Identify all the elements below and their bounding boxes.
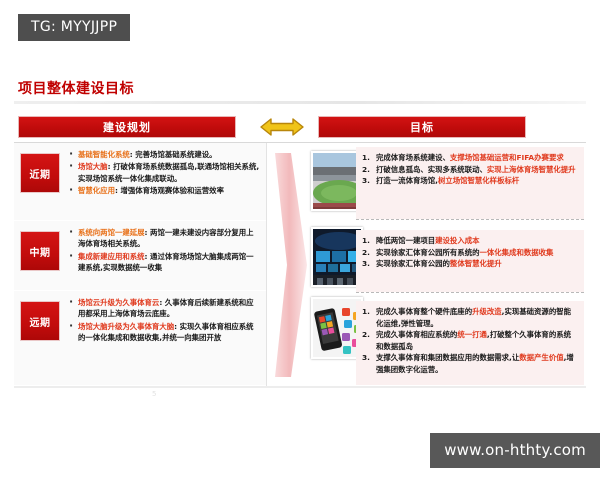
bottom-divider bbox=[14, 386, 586, 388]
goal-item-number: 3. bbox=[362, 175, 370, 187]
bottom-watermark-tag: www.on-hthty.com bbox=[430, 433, 600, 468]
goal-item: 2.打破信息孤岛、实现多系统联动、实现上海体育场智慧化提升 bbox=[360, 164, 578, 176]
banner-construction-plan[interactable]: 建设规划 bbox=[18, 116, 236, 138]
goal-item: 3.支撑久事体育和集团数据应用的数据需求,让数据产生价值,增强集团数字化运营。 bbox=[360, 352, 578, 375]
goal-item: 1.降低两馆一建项目建设投入成本 bbox=[360, 235, 578, 247]
plan-bullet-list: 场馆云升级为久事体育云: 久事体育后续新建系统和应用都采用上海体育场云底座。场馆… bbox=[66, 291, 266, 345]
plan-row: 近期 基础智能化系统: 完善场馆基础系统建设。场馆大脑: 打破体育场系统数据孤岛… bbox=[14, 143, 266, 221]
content-body: 近期 基础智能化系统: 完善场馆基础系统建设。场馆大脑: 打破体育场系统数据孤岛… bbox=[14, 142, 586, 387]
goal-item: 3.打造一流体育场馆,树立场馆智慧化样板标杆 bbox=[360, 175, 578, 187]
plan-bullet-list: 系统向两馆一建延展: 两馆一建未建设内容部分复用上海体育场相关系统。集成新建应用… bbox=[66, 221, 266, 275]
goal-item-number: 2. bbox=[362, 329, 370, 341]
goal-item-number: 1. bbox=[362, 152, 370, 164]
plan-bullet: 场馆云升级为久事体育云: 久事体育后续新建系统和应用都采用上海体育场云底座。 bbox=[68, 297, 260, 320]
goal-item: 1.完成体育场系统建设、支撑场馆基础运营和FIFA办赛要求 bbox=[360, 152, 578, 164]
banner-goals[interactable]: 目标 bbox=[318, 116, 526, 138]
goal-item: 2.完成久事体育相应系统的统一打通,打破整个久事体育的系统和数据孤岛 bbox=[360, 329, 578, 352]
phase-badge-mid: 中期 bbox=[20, 231, 60, 271]
goal-item-number: 3. bbox=[362, 352, 370, 364]
goal-item: 1.完成久事体育整个硬件底座的升级改造,实现基础资源的智能化运维,弹性管理。 bbox=[360, 306, 578, 329]
title-divider bbox=[14, 101, 586, 104]
goal-divider bbox=[356, 219, 584, 220]
goal-item: 3.实现徐家汇体育公园的整体智慧化提升 bbox=[360, 258, 578, 270]
goal-panel: 1.降低两馆一建项目建设投入成本2.实现徐家汇体育公园所有系统的一体化集成和数据… bbox=[356, 230, 584, 292]
plan-bullet: 场馆大脑: 打破体育场系统数据孤岛,联通场馆相关系统,实现场馆系统一体化集成联动… bbox=[68, 161, 260, 184]
goal-item-number: 1. bbox=[362, 306, 370, 318]
goals-column: 1.完成体育场系统建设、支撑场馆基础运营和FIFA办赛要求2.打破信息孤岛、实现… bbox=[354, 143, 586, 388]
plan-bullet: 系统向两馆一建延展: 两馆一建未建设内容部分复用上海体育场相关系统。 bbox=[68, 227, 260, 250]
slide-canvas: TG: MYYJJPP 项目整体建设目标 建设规划 目标 近期 基础智能化系统:… bbox=[0, 0, 600, 480]
phase-badge-long: 远期 bbox=[20, 301, 60, 341]
goal-panel: 1.完成体育场系统建设、支撑场馆基础运营和FIFA办赛要求2.打破信息孤岛、实现… bbox=[356, 147, 584, 219]
plan-row: 远期 场馆云升级为久事体育云: 久事体育后续新建系统和应用都采用上海体育场云底座… bbox=[14, 291, 266, 386]
pink-chevron-shape bbox=[269, 149, 309, 381]
plan-bullet: 集成新建应用和系统: 通过体育场场馆大脑集成两馆一建系统,实现数据统一收集 bbox=[68, 251, 260, 274]
goal-item: 2.实现徐家汇体育公园所有系统的一体化集成和数据收集 bbox=[360, 247, 578, 259]
goal-divider bbox=[356, 292, 584, 293]
plan-column: 近期 基础智能化系统: 完善场馆基础系统建设。场馆大脑: 打破体育场系统数据孤岛… bbox=[14, 143, 266, 388]
double-arrow-icon bbox=[258, 116, 306, 138]
plan-bullet: 智慧化应用: 增强体育场观赛体验和运营效率 bbox=[68, 185, 260, 196]
media-column bbox=[266, 143, 354, 388]
goal-item-number: 2. bbox=[362, 164, 370, 176]
plan-row: 中期 系统向两馆一建延展: 两馆一建未建设内容部分复用上海体育场相关系统。集成新… bbox=[14, 221, 266, 291]
page-title: 项目整体建设目标 bbox=[18, 78, 134, 98]
plan-bullet-list: 基础智能化系统: 完善场馆基础系统建设。场馆大脑: 打破体育场系统数据孤岛,联通… bbox=[66, 143, 266, 198]
plan-bullet: 基础智能化系统: 完善场馆基础系统建设。 bbox=[68, 149, 260, 160]
goal-item-number: 3. bbox=[362, 258, 370, 270]
plan-bullet: 场馆大脑升级为久事体育大脑: 实现久事体育相应系统的一体化集成和数据收集,并统一… bbox=[68, 321, 260, 344]
goal-item-number: 1. bbox=[362, 235, 370, 247]
phase-badge-near: 近期 bbox=[20, 153, 60, 193]
goal-item-number: 2. bbox=[362, 247, 370, 259]
goal-panel: 1.完成久事体育整个硬件底座的升级改造,实现基础资源的智能化运维,弹性管理。2.… bbox=[356, 301, 584, 385]
top-watermark-tag: TG: MYYJJPP bbox=[18, 14, 130, 41]
page-number: 5 bbox=[152, 390, 156, 398]
